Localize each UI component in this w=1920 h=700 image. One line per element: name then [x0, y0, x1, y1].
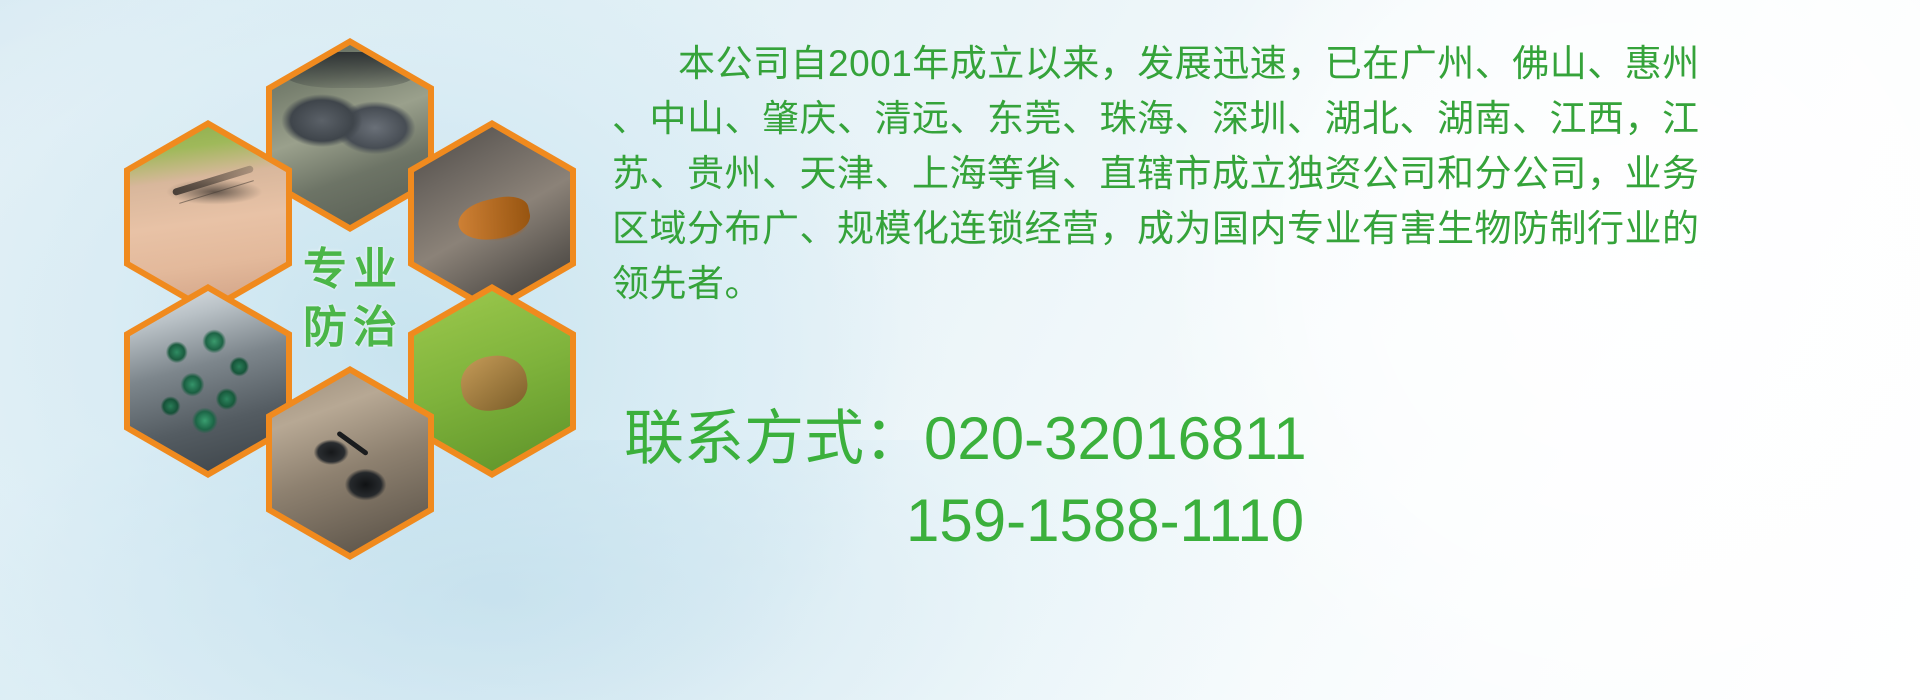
hex-ant-inner: [272, 373, 428, 553]
mosquito-photo-icon: [130, 127, 286, 307]
company-description: 本公司自2001年成立以来，发展迅速，已在广州、佛山、惠州 、中山、肇庆、清远、…: [612, 36, 1907, 311]
rats-photo-icon: [272, 45, 428, 225]
hex-cockroach-inner: [414, 127, 570, 307]
logo-center-text: 专业 防治: [266, 202, 434, 396]
cockroach-photo-icon: [414, 127, 570, 307]
description-line-1: 本公司自2001年成立以来，发展迅速，已在广州、佛山、惠州: [612, 36, 1907, 91]
contact-phone-mobile[interactable]: 159-1588-1110: [624, 480, 1914, 562]
ant-photo-icon: [272, 373, 428, 553]
logo-center-line-1: 专业: [297, 248, 403, 292]
logo-center-line-2: 防治: [297, 306, 403, 350]
hex-mosquito-inner: [130, 127, 286, 307]
flies-photo-icon: [130, 291, 286, 471]
description-line-4: 区域分布广、规模化连锁经营，成为国内专业有害生物防制行业的: [612, 201, 1907, 256]
hex-stinkbug-inner: [414, 291, 570, 471]
hex-rats-inner: [272, 45, 428, 225]
description-line-2: 、中山、肇庆、清远、东莞、珠海、深圳、湖北、湖南、江西，江: [612, 91, 1907, 146]
contact-phone-landline[interactable]: 联系方式：020-32016811: [624, 398, 1914, 480]
honeycomb-logo: 专业 防治: [100, 16, 580, 576]
hex-flies-inner: [130, 291, 286, 471]
description-line-5: 领先者。: [612, 256, 1907, 311]
stinkbug-photo-icon: [414, 291, 570, 471]
contact-block: 联系方式：020-32016811 159-1588-1110: [624, 398, 1914, 562]
promo-banner: 专业 防治 本公司自2001年成立以来，发展迅速，已在广州、佛山、惠州 、中山、…: [0, 0, 1920, 700]
description-line-3: 苏、贵州、天津、上海等省、直辖市成立独资公司和分公司，业务: [612, 146, 1907, 201]
